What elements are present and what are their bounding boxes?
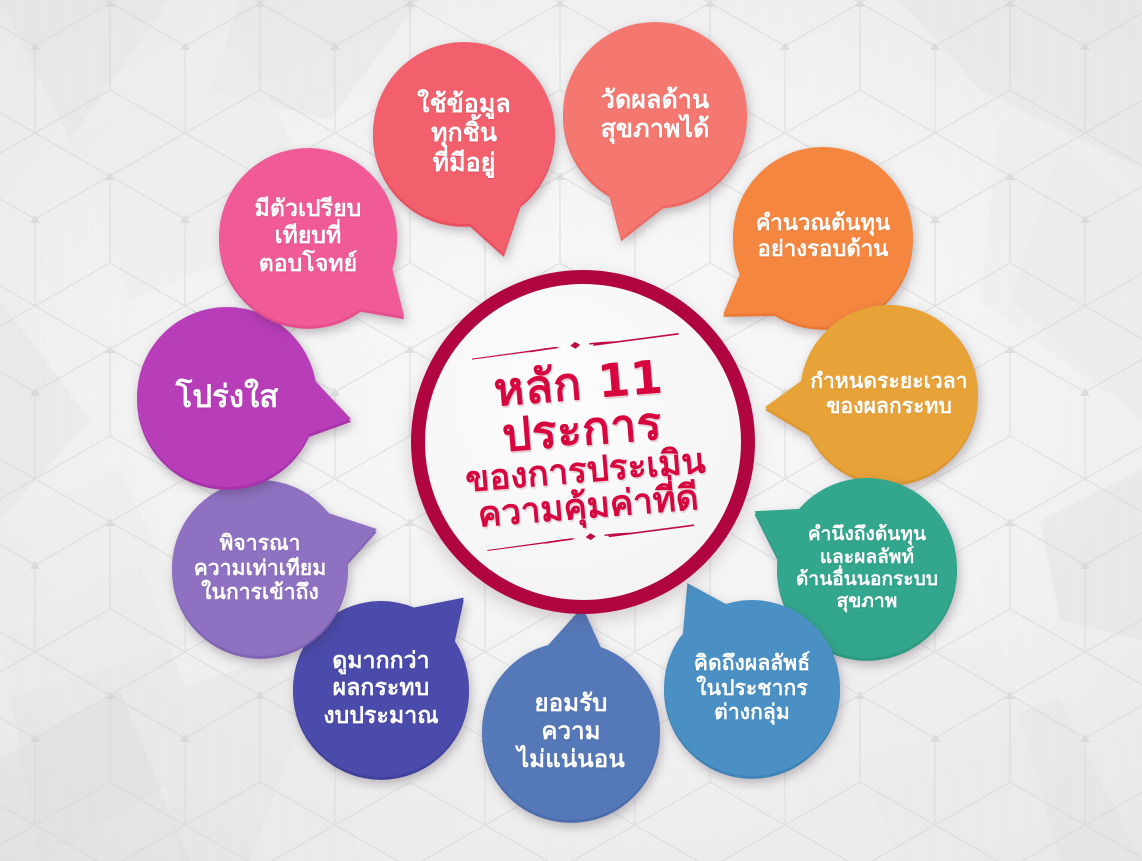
speech-bubble-label: ยอมรับ ความ ไม่แน่นอน [507, 689, 635, 774]
speech-bubble-label: ดูมากกว่า ผลกระทบ งบประมาณ [313, 648, 448, 729]
speech-bubble-transparency[interactable]: โปร่งใส [137, 307, 317, 487]
speech-bubble-label: มีตัวเปรียบ เทียบที่ ตอบโจทย์ [245, 196, 372, 277]
speech-bubble-subgroup-outcomes[interactable]: คิดถึงผลลัพธ์ ในประชากร ต่างกลุ่ม [664, 600, 840, 776]
speech-bubble-label: คำนวณต้นทุน อย่างรอบด้าน [746, 211, 901, 263]
speech-bubble-label: วัดผลด้าน สุขภาพได้ [591, 85, 720, 144]
speech-bubble-comprehensive-cost[interactable]: คำนวณต้นทุน อย่างรอบด้าน [733, 147, 913, 327]
center-medallion-inner: หลัก 11 ประการ ของการประเมิน ความคุ้มค่า… [413, 272, 753, 612]
speech-bubble-label: คิดถึงผลลัพธ์ ในประชากร ต่างกลุ่ม [684, 651, 820, 725]
center-medallion: หลัก 11 ประการ ของการประเมิน ความคุ้มค่า… [411, 270, 755, 614]
infographic-canvas: ใช้ข้อมูล ทุกชิ้น ที่มีอยู่วัดผลด้าน สุข… [0, 0, 1142, 861]
speech-bubble-label: กำหนดระยะเวลา ของผลกระทบ [800, 369, 977, 419]
speech-bubble-accept-uncertainty[interactable]: ยอมรับ ความ ไม่แน่นอน [482, 642, 660, 820]
speech-bubble-label: โปร่งใส [166, 379, 289, 416]
center-title-block: หลัก 11 ประการ ของการประเมิน ความคุ้มค่า… [419, 348, 747, 538]
speech-bubble-equity-of-access[interactable]: พิจารณา ความเท่าเทียม ในการเข้าถึง [172, 480, 348, 656]
speech-bubble-label: ใช้ข้อมูล ทุกชิ้น ที่มีอยู่ [407, 89, 521, 178]
speech-bubble-label: พิจารณา ความเท่าเทียม ในการเข้าถึง [184, 531, 337, 605]
speech-bubble-impact-time-horizon[interactable]: กำหนดระยะเวลา ของผลกระทบ [800, 305, 978, 483]
speech-bubble-use-all-data[interactable]: ใช้ข้อมูล ทุกชิ้น ที่มีอยู่ [373, 42, 555, 224]
speech-bubble-relevant-comparator[interactable]: มีตัวเปรียบ เทียบที่ ตอบโจทย์ [219, 148, 397, 326]
speech-bubble-measurable-health-outcome[interactable]: วัดผลด้าน สุขภาพได้ [563, 22, 747, 206]
